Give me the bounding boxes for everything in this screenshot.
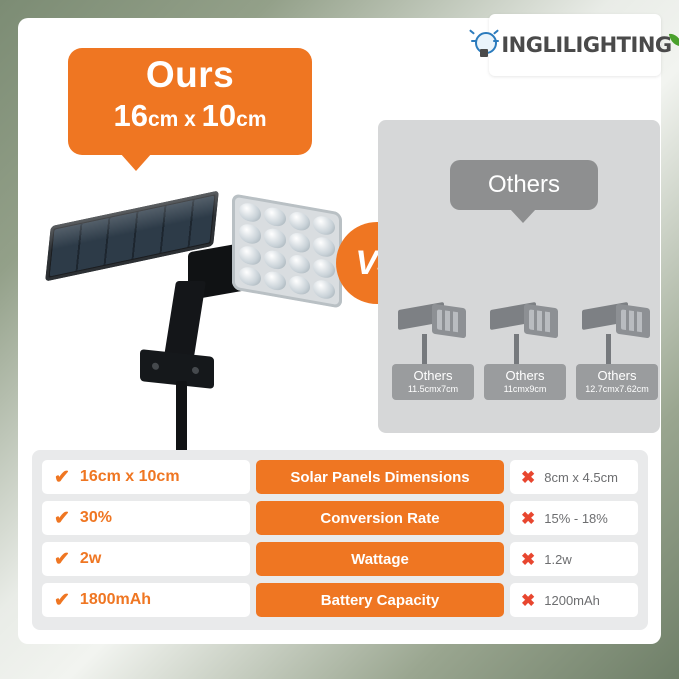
product-arm bbox=[164, 281, 206, 357]
list-item: Others 11cmx9cm bbox=[484, 292, 566, 400]
brand-logo: INGLILIGHTING bbox=[489, 14, 661, 76]
feature-cell: Solar Panels Dimensions bbox=[256, 460, 504, 494]
cross-icon: ✖ bbox=[521, 551, 535, 568]
ours-value: 16cm x 10cm bbox=[80, 468, 180, 486]
check-icon: ✔ bbox=[54, 591, 70, 610]
others-cell: ✖ 1200mAh bbox=[510, 583, 638, 617]
ours-badge-title: Ours bbox=[68, 54, 312, 96]
others-product-image bbox=[576, 292, 658, 364]
others-product-image bbox=[484, 292, 566, 364]
others-value: 8cm x 4.5cm bbox=[544, 470, 618, 485]
product-comparison-image: INGLILIGHTING Ours 16cm x 10cm bbox=[0, 0, 679, 679]
table-row: ✔ 16cm x 10cm Solar Panels Dimensions ✖ … bbox=[42, 460, 638, 494]
lightbulb-icon bbox=[469, 28, 499, 62]
ours-badge-tail bbox=[120, 153, 152, 171]
feature-cell: Battery Capacity bbox=[256, 583, 504, 617]
others-product-list: Others 11.5cmx7cm Others 11cmx9cm Othe bbox=[392, 292, 658, 400]
feature-cell: Wattage bbox=[256, 542, 504, 576]
others-product-name: Others bbox=[578, 368, 656, 383]
list-item: Others 11.5cmx7cm bbox=[392, 292, 474, 400]
others-value: 1.2w bbox=[544, 552, 571, 567]
others-product-image bbox=[392, 292, 474, 364]
others-product-dimensions: 11cmx9cm bbox=[486, 383, 564, 395]
ours-badge-dimensions: 16cm x 10cm bbox=[68, 98, 312, 134]
check-icon: ✔ bbox=[54, 468, 70, 487]
table-row: ✔ 30% Conversion Rate ✖ 15% - 18% bbox=[42, 501, 638, 535]
ours-value: 2w bbox=[80, 550, 101, 568]
others-product-label: Others 12.7cmx7.62cm bbox=[576, 364, 658, 400]
others-product-label: Others 11.5cmx7cm bbox=[392, 364, 474, 400]
ours-cell: ✔ 1800mAh bbox=[42, 583, 250, 617]
ours-value: 30% bbox=[80, 509, 112, 527]
ours-badge: Ours 16cm x 10cm bbox=[68, 48, 312, 155]
others-badge: Others bbox=[450, 160, 598, 210]
ours-value: 1800mAh bbox=[80, 591, 151, 609]
feature-label: Wattage bbox=[351, 551, 409, 568]
ours-dim-unit-2: cm bbox=[236, 108, 266, 131]
check-icon: ✔ bbox=[54, 550, 70, 569]
others-value: 15% - 18% bbox=[544, 511, 608, 526]
ours-dim-value-2: 10 bbox=[202, 98, 236, 133]
others-badge-title: Others bbox=[488, 171, 560, 199]
feature-label: Battery Capacity bbox=[321, 592, 439, 609]
others-product-dimensions: 12.7cmx7.62cm bbox=[578, 383, 656, 395]
feature-label: Solar Panels Dimensions bbox=[290, 469, 469, 486]
feature-label: Conversion Rate bbox=[320, 510, 439, 527]
ours-dim-unit-1: cm bbox=[148, 108, 178, 131]
check-icon: ✔ bbox=[54, 509, 70, 528]
ours-cell: ✔ 16cm x 10cm bbox=[42, 460, 250, 494]
others-panel: Others Others 11.5cmx7cm Others 11cm bbox=[378, 120, 660, 433]
ours-dim-value-1: 16 bbox=[113, 98, 147, 133]
others-product-name: Others bbox=[394, 368, 472, 383]
ours-dim-separator: x bbox=[178, 108, 201, 131]
others-product-dimensions: 11.5cmx7cm bbox=[394, 383, 472, 395]
comparison-table: ✔ 16cm x 10cm Solar Panels Dimensions ✖ … bbox=[32, 450, 648, 630]
others-cell: ✖ 15% - 18% bbox=[510, 501, 638, 535]
brand-logo-text: INGLILIGHTING bbox=[501, 33, 671, 57]
cross-icon: ✖ bbox=[521, 592, 535, 609]
others-cell: ✖ 1.2w bbox=[510, 542, 638, 576]
others-badge-tail bbox=[510, 209, 536, 223]
cross-icon: ✖ bbox=[521, 469, 535, 486]
ground-stake bbox=[176, 381, 187, 453]
others-product-label: Others 11cmx9cm bbox=[484, 364, 566, 400]
others-product-name: Others bbox=[486, 368, 564, 383]
ours-cell: ✔ 30% bbox=[42, 501, 250, 535]
led-head bbox=[232, 193, 342, 308]
cross-icon: ✖ bbox=[521, 510, 535, 527]
ours-product-image bbox=[40, 185, 340, 445]
feature-cell: Conversion Rate bbox=[256, 501, 504, 535]
others-cell: ✖ 8cm x 4.5cm bbox=[510, 460, 638, 494]
others-value: 1200mAh bbox=[544, 593, 600, 608]
list-item: Others 12.7cmx7.62cm bbox=[576, 292, 658, 400]
table-row: ✔ 1800mAh Battery Capacity ✖ 1200mAh bbox=[42, 583, 638, 617]
ours-cell: ✔ 2w bbox=[42, 542, 250, 576]
table-row: ✔ 2w Wattage ✖ 1.2w bbox=[42, 542, 638, 576]
